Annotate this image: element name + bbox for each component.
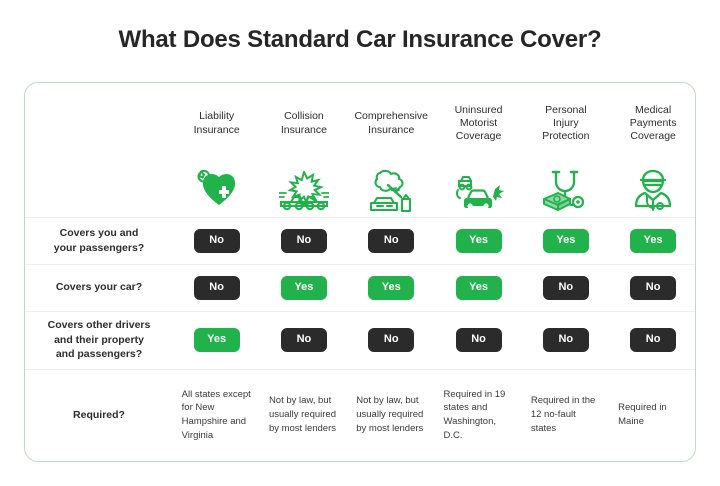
table-icon-row — [25, 165, 696, 218]
cell-covers-you-collision: No — [260, 217, 347, 264]
doctor-icon — [609, 168, 696, 214]
requirement-note: All states except for New Hampshire and … — [180, 388, 254, 443]
column-header-medical-payments: Medical Payments Coverage — [609, 83, 696, 165]
status-badge: No — [456, 328, 502, 352]
cell-covers-others-uninsured: No — [435, 311, 522, 369]
column-header-label: Medical Payments Coverage — [609, 104, 696, 144]
status-badge: No — [368, 229, 414, 253]
status-badge: No — [630, 328, 676, 352]
status-badge: No — [194, 276, 240, 300]
status-badge: No — [630, 276, 676, 300]
icon-cell-comprehensive — [348, 165, 435, 218]
row-question-required: Required? — [25, 369, 173, 461]
icon-cell-medical-payments — [609, 165, 696, 218]
row-question-covers-you: Covers you and your passengers? — [25, 217, 173, 264]
column-header-personal-injury-protection: Personal Injury Protection — [522, 83, 609, 165]
status-badge: No — [281, 328, 327, 352]
cell-required-pip: Required in the 12 no-fault states — [522, 369, 609, 461]
cell-covers-your-car-collision: Yes — [260, 264, 347, 311]
requirement-note: Not by law, but usually required by most… — [267, 394, 341, 435]
status-badge: Yes — [456, 229, 502, 253]
coverage-comparison-card: Liability Insurance Collision Insurance … — [24, 82, 696, 462]
column-header-uninsured-motorist: Uninsured Motorist Coverage — [435, 83, 522, 165]
tree-falling-on-car-icon — [348, 168, 435, 214]
status-badge: Yes — [281, 276, 327, 300]
icon-cell-uninsured-motorist — [435, 165, 522, 218]
column-header-comprehensive: Comprehensive Insurance — [348, 83, 435, 165]
requirement-note: Required in 19 states and Washington, D.… — [442, 388, 516, 443]
car-crash-icon — [260, 168, 347, 214]
status-badge: Yes — [456, 276, 502, 300]
shield-wrench-cross-icon — [173, 168, 260, 214]
icon-cell-liability — [173, 165, 260, 218]
status-badge: No — [281, 229, 327, 253]
status-badge: Yes — [368, 276, 414, 300]
cell-covers-your-car-uninsured: Yes — [435, 264, 522, 311]
cell-covers-others-pip: No — [522, 311, 609, 369]
cell-covers-you-comprehensive: No — [348, 217, 435, 264]
two-car-collision-icon — [435, 168, 522, 214]
cell-covers-your-car-liability: No — [173, 264, 260, 311]
cell-covers-your-car-medpay: No — [609, 264, 696, 311]
column-header-label: Personal Injury Protection — [522, 104, 609, 144]
row-question-covers-other-drivers: Covers other drivers and their property … — [25, 311, 173, 369]
header-corner-spacer — [25, 83, 173, 165]
cell-covers-others-medpay: No — [609, 311, 696, 369]
status-badge: No — [194, 229, 240, 253]
cell-required-comprehensive: Not by law, but usually required by most… — [348, 369, 435, 461]
table-row-required: Required? All states except for New Hamp… — [25, 369, 696, 461]
column-header-label: Liability Insurance — [173, 110, 260, 137]
row-question-covers-your-car: Covers your car? — [25, 264, 173, 311]
cell-required-uninsured: Required in 19 states and Washington, D.… — [435, 369, 522, 461]
status-badge: Yes — [630, 229, 676, 253]
column-header-label: Uninsured Motorist Coverage — [435, 104, 522, 144]
cell-covers-others-liability: Yes — [173, 311, 260, 369]
table-row: Covers you and your passengers? No No No… — [25, 217, 696, 264]
status-badge: Yes — [194, 328, 240, 352]
requirement-note: Required in Maine — [616, 401, 690, 429]
cell-covers-your-car-pip: No — [522, 264, 609, 311]
column-header-label: Comprehensive Insurance — [348, 110, 435, 137]
column-header-liability: Liability Insurance — [173, 83, 260, 165]
requirement-note: Required in the 12 no-fault states — [529, 394, 603, 435]
column-header-label: Collision Insurance — [260, 110, 347, 137]
infographic-page: What Does Standard Car Insurance Cover? … — [0, 0, 720, 486]
cell-required-collision: Not by law, but usually required by most… — [260, 369, 347, 461]
table-header-row: Liability Insurance Collision Insurance … — [25, 83, 696, 165]
cell-covers-you-pip: Yes — [522, 217, 609, 264]
status-badge: No — [368, 328, 414, 352]
icon-cell-collision — [260, 165, 347, 218]
status-badge: Yes — [543, 229, 589, 253]
table-row: Covers your car? No Yes Yes Yes No — [25, 264, 696, 311]
page-title: What Does Standard Car Insurance Cover? — [0, 0, 720, 53]
cell-covers-your-car-comprehensive: Yes — [348, 264, 435, 311]
column-header-collision: Collision Insurance — [260, 83, 347, 165]
cell-covers-you-uninsured: Yes — [435, 217, 522, 264]
icon-cell-personal-injury-protection — [522, 165, 609, 218]
table-row: Covers other drivers and their property … — [25, 311, 696, 369]
cell-covers-others-collision: No — [260, 311, 347, 369]
cell-required-liability: All states except for New Hampshire and … — [173, 369, 260, 461]
status-badge: No — [543, 328, 589, 352]
requirement-note: Not by law, but usually required by most… — [354, 394, 428, 435]
cell-required-medpay: Required in Maine — [609, 369, 696, 461]
icon-corner-spacer — [25, 165, 173, 218]
cell-covers-you-liability: No — [173, 217, 260, 264]
coverage-table: Liability Insurance Collision Insurance … — [25, 83, 696, 461]
cell-covers-you-medpay: Yes — [609, 217, 696, 264]
stethoscope-money-icon — [522, 168, 609, 214]
cell-covers-others-comprehensive: No — [348, 311, 435, 369]
status-badge: No — [543, 276, 589, 300]
